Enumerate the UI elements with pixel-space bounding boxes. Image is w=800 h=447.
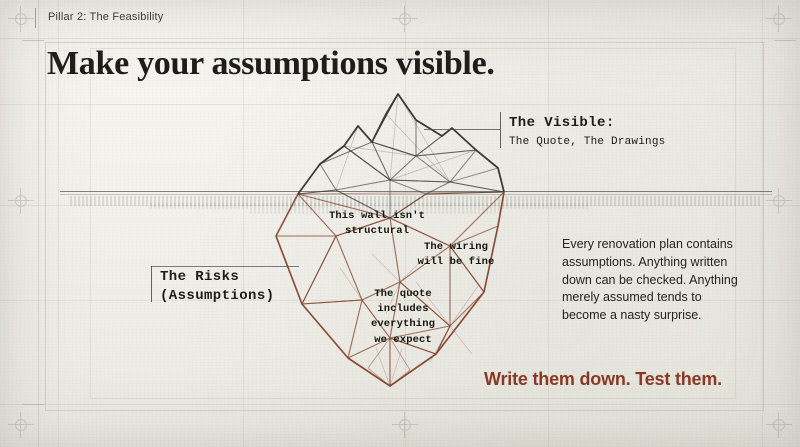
- risks-callout-leader: [151, 266, 299, 267]
- guide-line-vertical: [38, 0, 39, 447]
- callout-risks: The Risks (Assumptions): [160, 268, 274, 306]
- guide-line-horizontal: [0, 38, 800, 39]
- assumption-label: The wiringwill be fine: [408, 240, 504, 270]
- callout-visible: The Visible: The Quote, The Drawings: [509, 114, 665, 150]
- assumption-label: This wall isn'tstructural: [316, 209, 438, 239]
- registration-tick: [774, 40, 796, 41]
- page-title: Make your assumptions visible.: [47, 45, 495, 83]
- registration-crosshair-icon: [392, 6, 418, 32]
- visible-callout-leader: [424, 129, 500, 130]
- kicker-rule: [35, 8, 36, 28]
- registration-crosshair-icon: [8, 6, 34, 32]
- visible-callout-tick: [500, 112, 501, 148]
- call-to-action: Write them down. Test them.: [484, 369, 722, 390]
- registration-crosshair-icon: [8, 412, 34, 438]
- registration-crosshair-icon: [766, 412, 792, 438]
- risks-callout-tick: [151, 266, 152, 302]
- callout-visible-heading: The Visible:: [509, 114, 665, 133]
- registration-crosshair-icon: [392, 412, 418, 438]
- callout-risks-sub: (Assumptions): [160, 287, 274, 306]
- registration-crosshair-icon: [766, 6, 792, 32]
- callout-visible-sub: The Quote, The Drawings: [509, 135, 665, 150]
- callout-risks-heading: The Risks: [160, 268, 274, 287]
- assumption-label: The quoteincludeseverythingwe expect: [362, 287, 444, 348]
- registration-tick: [22, 404, 44, 405]
- registration-crosshair-icon: [8, 188, 34, 214]
- body-paragraph: Every renovation plan contains assumptio…: [562, 236, 738, 325]
- slide-canvas: Pillar 2: The Feasibility Make your assu…: [0, 0, 800, 447]
- registration-tick: [22, 40, 44, 41]
- kicker-label: Pillar 2: The Feasibility: [48, 11, 163, 23]
